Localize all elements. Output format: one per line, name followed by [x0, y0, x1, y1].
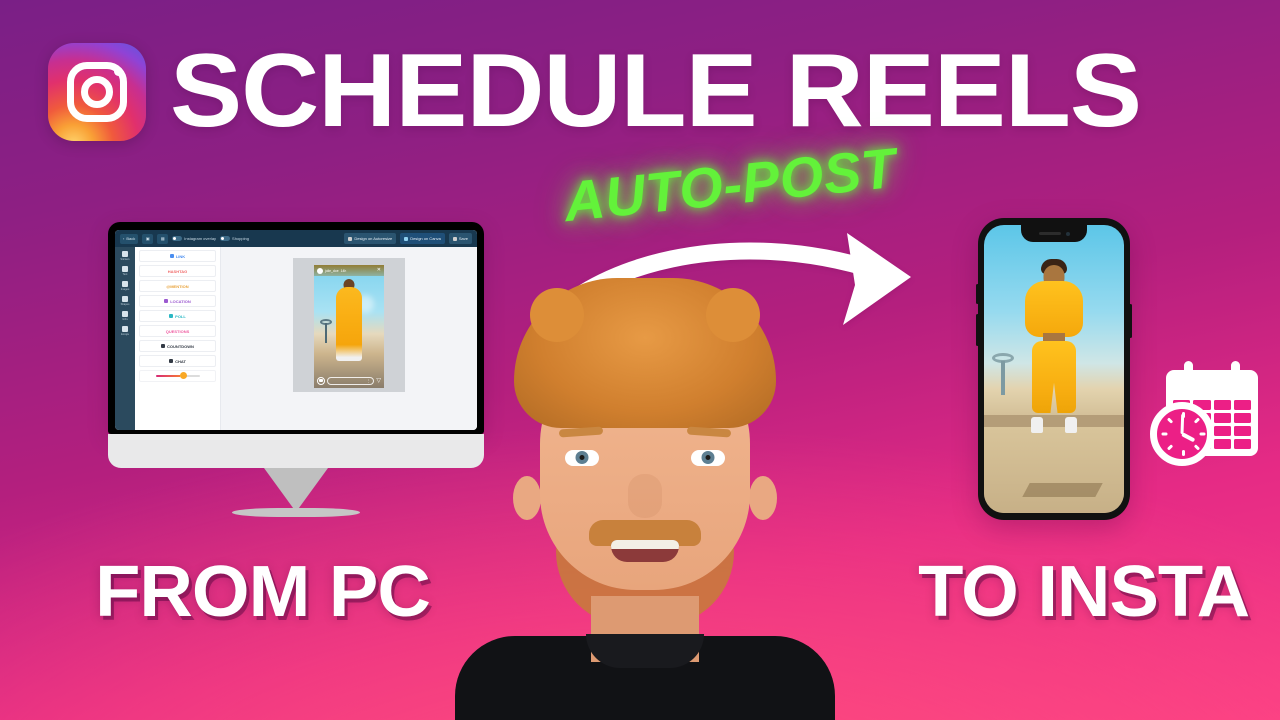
- list-item-label: @MENTION: [166, 284, 188, 289]
- design-on-canva-label: Design on Canva: [410, 236, 441, 241]
- close-icon[interactable]: ✕: [377, 268, 381, 273]
- toggle-switch[interactable]: [172, 236, 182, 241]
- calendar-ring-left: [1184, 361, 1193, 377]
- label-to-insta: TO INSTA: [918, 556, 1249, 628]
- list-item-slider[interactable]: [139, 370, 216, 382]
- shapes-icon: [122, 296, 128, 302]
- list-item[interactable]: HASHTAG: [139, 265, 216, 277]
- presenter-eye-right: [691, 450, 725, 466]
- presenter-eye-left: [565, 450, 599, 466]
- sticker-list: LINK HASHTAG @MENTION LOCATION POLL: [135, 247, 221, 430]
- presenter-hair: [514, 278, 776, 428]
- list-item[interactable]: COUNTDOWN: [139, 340, 216, 352]
- gif-icon: [122, 311, 128, 317]
- calendar-ring-right: [1231, 361, 1240, 377]
- sidebar-item-gifs[interactable]: GIFs: [122, 311, 128, 321]
- monitor-stand: [264, 468, 328, 512]
- sidebar-item-label: Stickers: [120, 258, 129, 261]
- sidebar-item-label: Shapes: [121, 303, 130, 306]
- chart-tool-button[interactable]: ▦: [157, 234, 168, 244]
- back-label: Back: [126, 236, 135, 241]
- app-toolbar: ‹ Back ▣ ▦ Instagram overlay Shopping De…: [115, 230, 477, 247]
- reply-input[interactable]: ⋮: [327, 377, 374, 385]
- save-label: Save: [459, 236, 468, 241]
- sidebar-item-label: Images: [121, 288, 130, 291]
- story-username: jolie_doe: [325, 269, 339, 273]
- model-boot-left: [1031, 417, 1043, 433]
- back-button[interactable]: ‹ Back: [120, 234, 138, 244]
- emoji-icon: [122, 326, 128, 332]
- list-item-label: COUNTDOWN: [167, 344, 194, 349]
- back-chevron-icon: ‹: [123, 236, 124, 241]
- monitor-chin: [108, 434, 484, 468]
- list-item[interactable]: QUESTIONS: [139, 325, 216, 337]
- presenter-ear-right: [749, 476, 777, 520]
- reel-ground: [984, 427, 1124, 513]
- model-boot-right: [1065, 417, 1077, 433]
- front-camera-icon: [1066, 232, 1070, 236]
- reel-hoop-pole: [1001, 361, 1005, 395]
- toggle-instagram-overlay-label: Instagram overlay: [184, 236, 216, 241]
- countdown-icon: [161, 344, 165, 348]
- scheduler-app: ‹ Back ▣ ▦ Instagram overlay Shopping De…: [115, 230, 477, 430]
- toggle-switch[interactable]: [220, 236, 230, 241]
- sidebar-item-text[interactable]: Text: [122, 266, 128, 276]
- sidebar-item-label: GIFs: [122, 318, 128, 321]
- presenter-portrait: [455, 278, 835, 720]
- poll-icon: [169, 314, 173, 318]
- instagram-logo-lens: [81, 76, 113, 108]
- design-on-autoresize-label: Design on Autoresize: [354, 236, 392, 241]
- instagram-logo-icon: [48, 43, 146, 141]
- sidebar-item-label: Text: [123, 273, 128, 276]
- text-icon: [122, 266, 128, 272]
- sticker-icon: [122, 251, 128, 257]
- list-item[interactable]: LOCATION: [139, 295, 216, 307]
- phone-notch: [1021, 225, 1087, 242]
- list-item-label: CHAT: [175, 359, 186, 364]
- link-icon: [170, 254, 174, 258]
- design-on-autoresize-button[interactable]: Design on Autoresize: [344, 233, 396, 244]
- desktop-monitor: ‹ Back ▣ ▦ Instagram overlay Shopping De…: [108, 222, 484, 522]
- list-item-label: POLL: [175, 314, 186, 319]
- location-icon: [164, 299, 168, 303]
- list-item-label: QUESTIONS: [166, 329, 190, 334]
- presenter-mouth: [611, 540, 679, 562]
- phone-screen[interactable]: [984, 225, 1124, 513]
- list-item[interactable]: @MENTION: [139, 280, 216, 292]
- reel-model: [1023, 259, 1085, 429]
- camera-icon[interactable]: [317, 377, 325, 385]
- app-sidebar: Stickers Text Images Shapes: [115, 247, 135, 430]
- list-item-label: LINK: [176, 254, 185, 259]
- save-button[interactable]: Save: [449, 233, 472, 244]
- page-title: SCHEDULE REELS: [170, 42, 1141, 142]
- story-timestamp: 14h: [341, 269, 347, 273]
- model-hoodie: [1025, 281, 1083, 337]
- sidebar-item-images[interactable]: Images: [121, 281, 130, 291]
- list-item[interactable]: LINK: [139, 250, 216, 262]
- list-item[interactable]: CHAT: [139, 355, 216, 367]
- crop-tool-button[interactable]: ▣: [142, 234, 153, 244]
- sidebar-item-label: Emojis: [121, 333, 129, 336]
- app-body: Stickers Text Images Shapes: [115, 247, 477, 430]
- emoji-slider[interactable]: [156, 375, 200, 377]
- header: SCHEDULE REELS: [48, 22, 1238, 162]
- instagram-logo-dot: [114, 67, 123, 76]
- avatar: [317, 268, 323, 274]
- calendar-clock-icon: [1148, 358, 1260, 470]
- image-icon: [122, 281, 128, 287]
- save-icon: [453, 237, 457, 241]
- list-item-label: HASHTAG: [168, 269, 187, 274]
- list-item-label: LOCATION: [170, 299, 191, 304]
- chat-icon: [169, 359, 173, 363]
- label-from-pc: FROM PC: [95, 556, 430, 628]
- power-button[interactable]: [1129, 304, 1132, 338]
- reel-shadow: [1022, 483, 1102, 497]
- story-footer: ⋮ ▽: [314, 375, 384, 386]
- canva-icon: [404, 237, 408, 241]
- sidebar-item-shapes[interactable]: Shapes: [121, 296, 130, 306]
- presenter-ear-left: [513, 476, 541, 520]
- list-item[interactable]: POLL: [139, 310, 216, 322]
- app-canvas[interactable]: jolie_doe 14h ✕ ⋮ ▽: [221, 247, 477, 430]
- send-icon[interactable]: ▽: [376, 378, 381, 384]
- clock-minute-hand: [1181, 414, 1185, 434]
- hoop-pole: [325, 323, 327, 343]
- presenter-collar: [586, 634, 704, 668]
- clock-hour-hand: [1181, 432, 1195, 442]
- clock-icon: [1150, 402, 1214, 466]
- story-header: jolie_doe 14h ✕: [314, 265, 384, 276]
- sidebar-item-emojis[interactable]: Emojis: [121, 326, 129, 336]
- speaker-icon: [1039, 232, 1061, 235]
- toggle-instagram-overlay[interactable]: Instagram overlay: [172, 236, 216, 241]
- presenter-nose: [628, 474, 662, 518]
- design-on-canva-button[interactable]: Design on Canva: [400, 233, 445, 244]
- monitor-screen: ‹ Back ▣ ▦ Instagram overlay Shopping De…: [108, 222, 484, 434]
- story-preview: jolie_doe 14h ✕ ⋮ ▽: [314, 265, 384, 388]
- toggle-shopping[interactable]: Shopping: [220, 236, 249, 241]
- image-icon: [348, 237, 352, 241]
- toggle-shopping-label: Shopping: [232, 236, 249, 241]
- model-pants: [1032, 341, 1076, 413]
- monitor-base: [232, 508, 360, 517]
- sidebar-item-stickers[interactable]: Stickers: [120, 251, 129, 261]
- model-body: [336, 287, 362, 361]
- iphone-mockup: [978, 218, 1130, 520]
